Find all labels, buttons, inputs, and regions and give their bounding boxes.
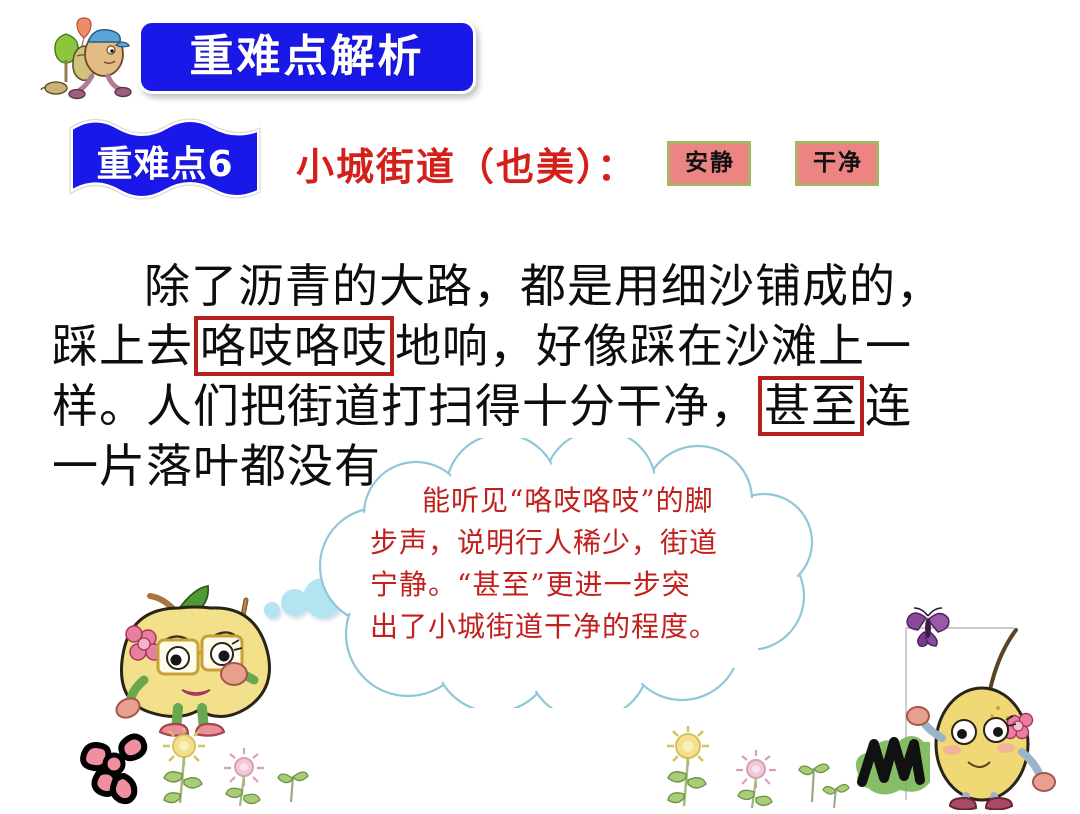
cloud-annotation-text: 能听见“咯吱咯吱”的脚 步声，说明行人稀少，街道 宁静。“甚至”更进一步突 出了… <box>370 480 840 648</box>
pink-daisy-icon <box>224 748 264 806</box>
slide-title-banner: 重难点解析 <box>138 20 476 94</box>
passage-line: 踩上去咯吱咯吱地响，好像踩在沙滩上一 <box>52 316 1032 376</box>
passage-line: 除了沥青的大路，都是用细沙铺成的， <box>52 256 1032 316</box>
cloud-line: 能听见“咯吱咯吱”的脚 <box>370 480 840 522</box>
green-bush-icon <box>856 736 930 795</box>
butterfly-icon <box>907 608 949 646</box>
cloud-line: 步声，说明行人稀少，街道 <box>370 522 840 564</box>
passage-segment: 踩上去 <box>52 319 193 373</box>
lesson-point-label: 重难点6 <box>62 112 268 208</box>
passage-segment: 样。人们把街道打扫得十分干净， <box>52 379 757 433</box>
passage-segment: 除了沥青的大路，都是用细沙铺成的， <box>144 259 943 313</box>
pink-flower-icon <box>83 736 144 801</box>
keyword-chip-quiet[interactable]: 安静 <box>667 141 751 185</box>
decoration-flowers-right <box>640 726 930 810</box>
cloud-line-text: 步声，说明行人稀少，街道 <box>370 526 718 559</box>
pink-daisy-icon <box>736 750 776 808</box>
passage-segment: 连 <box>865 379 912 433</box>
cloud-line: 宁静。“甚至”更进一步突 <box>370 564 840 606</box>
highlight-box-shenzhi[interactable]: 甚至 <box>758 376 864 436</box>
highlight-box-gezhi[interactable]: 咯吱咯吱 <box>194 316 394 376</box>
cloud-line-text: 出了小城街道干净的程度。 <box>370 610 718 643</box>
sprout-icon <box>278 772 308 802</box>
sprout-icon <box>799 764 849 808</box>
thought-cloud: 能听见“咯吱咯吱”的脚 步声，说明行人稀少，街道 宁静。“甚至”更进一步突 出了… <box>258 438 858 708</box>
yellow-daisy-icon <box>667 726 709 806</box>
subtitle-row: 小城街道（也美）： 安静 干净 <box>296 136 879 191</box>
cloud-line-text: 能听见“咯吱咯吱”的脚 <box>422 484 714 517</box>
cloud-line-text: 宁静。“甚至”更进一步突 <box>370 568 691 601</box>
page-title: 重难点解析 <box>190 35 425 79</box>
yellow-daisy-icon <box>163 728 205 803</box>
apple-teacher-icon <box>104 568 304 748</box>
keyword-chip-group: 安静 干净 <box>667 141 879 185</box>
slide-canvas: 重难点解析 重难点6 小城街道（也美）： 安静 干净 除了沥青的大路，都是用细沙… <box>0 0 1080 810</box>
lesson-point-flag: 重难点6 <box>62 112 268 208</box>
subtitle-text: 小城街道（也美）： <box>296 136 637 191</box>
keyword-chip-clean[interactable]: 干净 <box>795 141 879 185</box>
passage-line: 样。人们把街道打扫得十分干净，甚至连 <box>52 376 1032 436</box>
passage-segment: 地响，好像踩在沙滩上一 <box>395 319 912 373</box>
hiker-mascot-icon <box>32 12 136 108</box>
decoration-flowers-left <box>62 728 322 810</box>
cloud-line: 出了小城街道干净的程度。 <box>370 606 840 648</box>
